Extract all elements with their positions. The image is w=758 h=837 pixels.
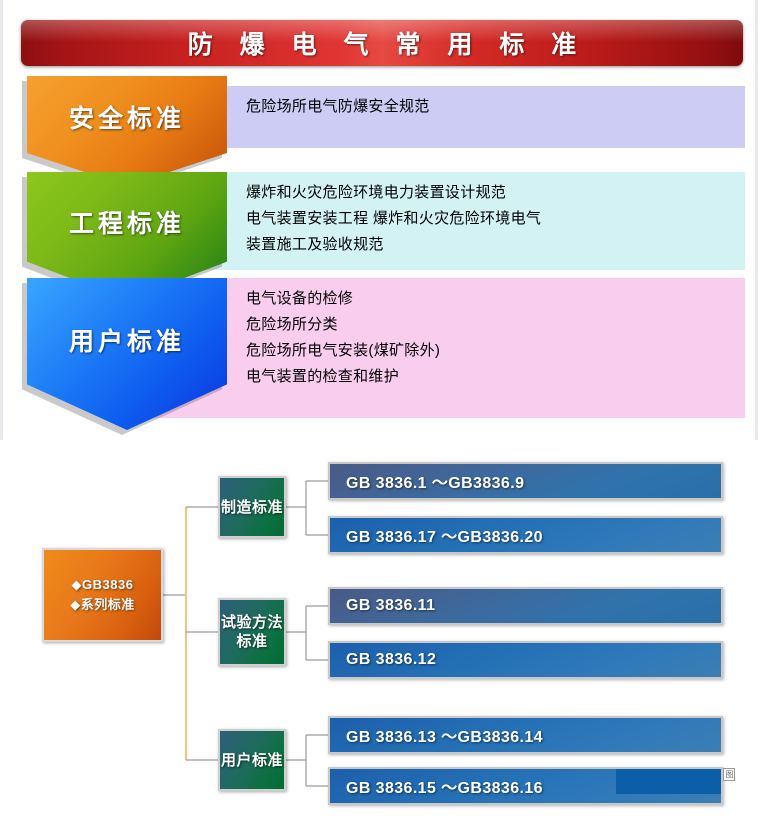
tree-leaf-node[interactable]: GB 3836.12 — [328, 641, 723, 679]
watermark-label: 图 — [723, 768, 735, 781]
tree-leaf-node[interactable]: GB 3836.1 ～GB3836.9 — [328, 462, 723, 500]
leaf-label: GB 3836.17 ～GB3836.20 — [346, 523, 543, 547]
branch-label: 用户标准 — [221, 751, 283, 770]
title-banner: 防 爆 电 气 常 用 标 准 — [21, 20, 743, 66]
standard-row: AQ 3009 危险场所电气防爆安全规范 — [146, 94, 745, 120]
standard-row: GB3836.16 电气装置的检查和维护 — [146, 364, 745, 390]
standard-description-continued: 装置施工及验收规范 — [146, 232, 745, 258]
standard-row: GB3836.13 电气设备的检修 — [146, 286, 745, 312]
leaf-label: GB 3836.13 ～GB3836.14 — [346, 723, 543, 747]
tree-root-node[interactable]: ◆GB3836 ◆系列标准 — [42, 548, 163, 642]
standard-description: 危险场所电气安装(煤矿除外) — [246, 338, 440, 364]
standard-row: GB 50257 电气装置安装工程 爆炸和火灾危险环境电气 — [146, 206, 745, 232]
root-label-line-1: ◆GB3836 — [72, 575, 134, 595]
branch-label: 制造标准 — [221, 498, 283, 517]
standards-overview-panel: 防 爆 电 气 常 用 标 准 AQ 3009 危险场所电气防爆安全规范 GB … — [0, 0, 758, 440]
standard-description: 电气装置的检查和维护 — [246, 364, 399, 390]
tree-branch-test-method[interactable]: 试验方法标准 — [218, 598, 286, 666]
leaf-label: GB 3836.11 — [346, 597, 435, 615]
standard-description: 电气装置安装工程 爆炸和火灾危险环境电气 — [246, 206, 541, 232]
tree-branch-user[interactable]: 用户标准 — [218, 729, 286, 791]
standard-row: GB 50058 爆炸和火灾危险环境电力装置设计规范 — [146, 180, 745, 206]
standard-description: 电气设备的检修 — [246, 286, 353, 312]
standard-description: 危险场所分类 — [246, 312, 338, 338]
tree-leaf-node[interactable]: GB 3836.17 ～GB3836.20 — [328, 516, 723, 554]
leaf-label: GB 3836.12 — [346, 651, 436, 669]
leaf-label: GB 3836.15 ～GB3836.16 — [346, 774, 543, 798]
standard-description: 危险场所电气防爆安全规范 — [246, 94, 430, 120]
chevron-label: 工程标准 — [69, 204, 185, 240]
tree-leaf-node[interactable]: GB 3836.13 ～GB3836.14 — [328, 716, 723, 754]
page-title: 防 爆 电 气 常 用 标 准 — [21, 20, 743, 66]
leaf-label: GB 3836.1 ～GB3836.9 — [346, 469, 524, 493]
root-label-line-2: ◆系列标准 — [70, 595, 135, 615]
standard-description: 爆炸和火灾危险环境电力装置设计规范 — [246, 180, 506, 206]
standard-row: GB3836.14 危险场所分类 — [146, 312, 745, 338]
standard-row: GB3836.15 危险场所电气安装(煤矿除外) — [146, 338, 745, 364]
tree-leaf-node[interactable]: GB 3836.11 — [328, 587, 723, 625]
tree-leaf-node[interactable]: GB 3836.15 ～GB3836.16 — [328, 767, 723, 805]
chevron-label: 安全标准 — [69, 99, 185, 135]
tree-branch-manufacturing[interactable]: 制造标准 — [218, 476, 286, 538]
branch-label: 试验方法标准 — [220, 613, 284, 651]
chevron-label: 用户标准 — [69, 322, 185, 358]
